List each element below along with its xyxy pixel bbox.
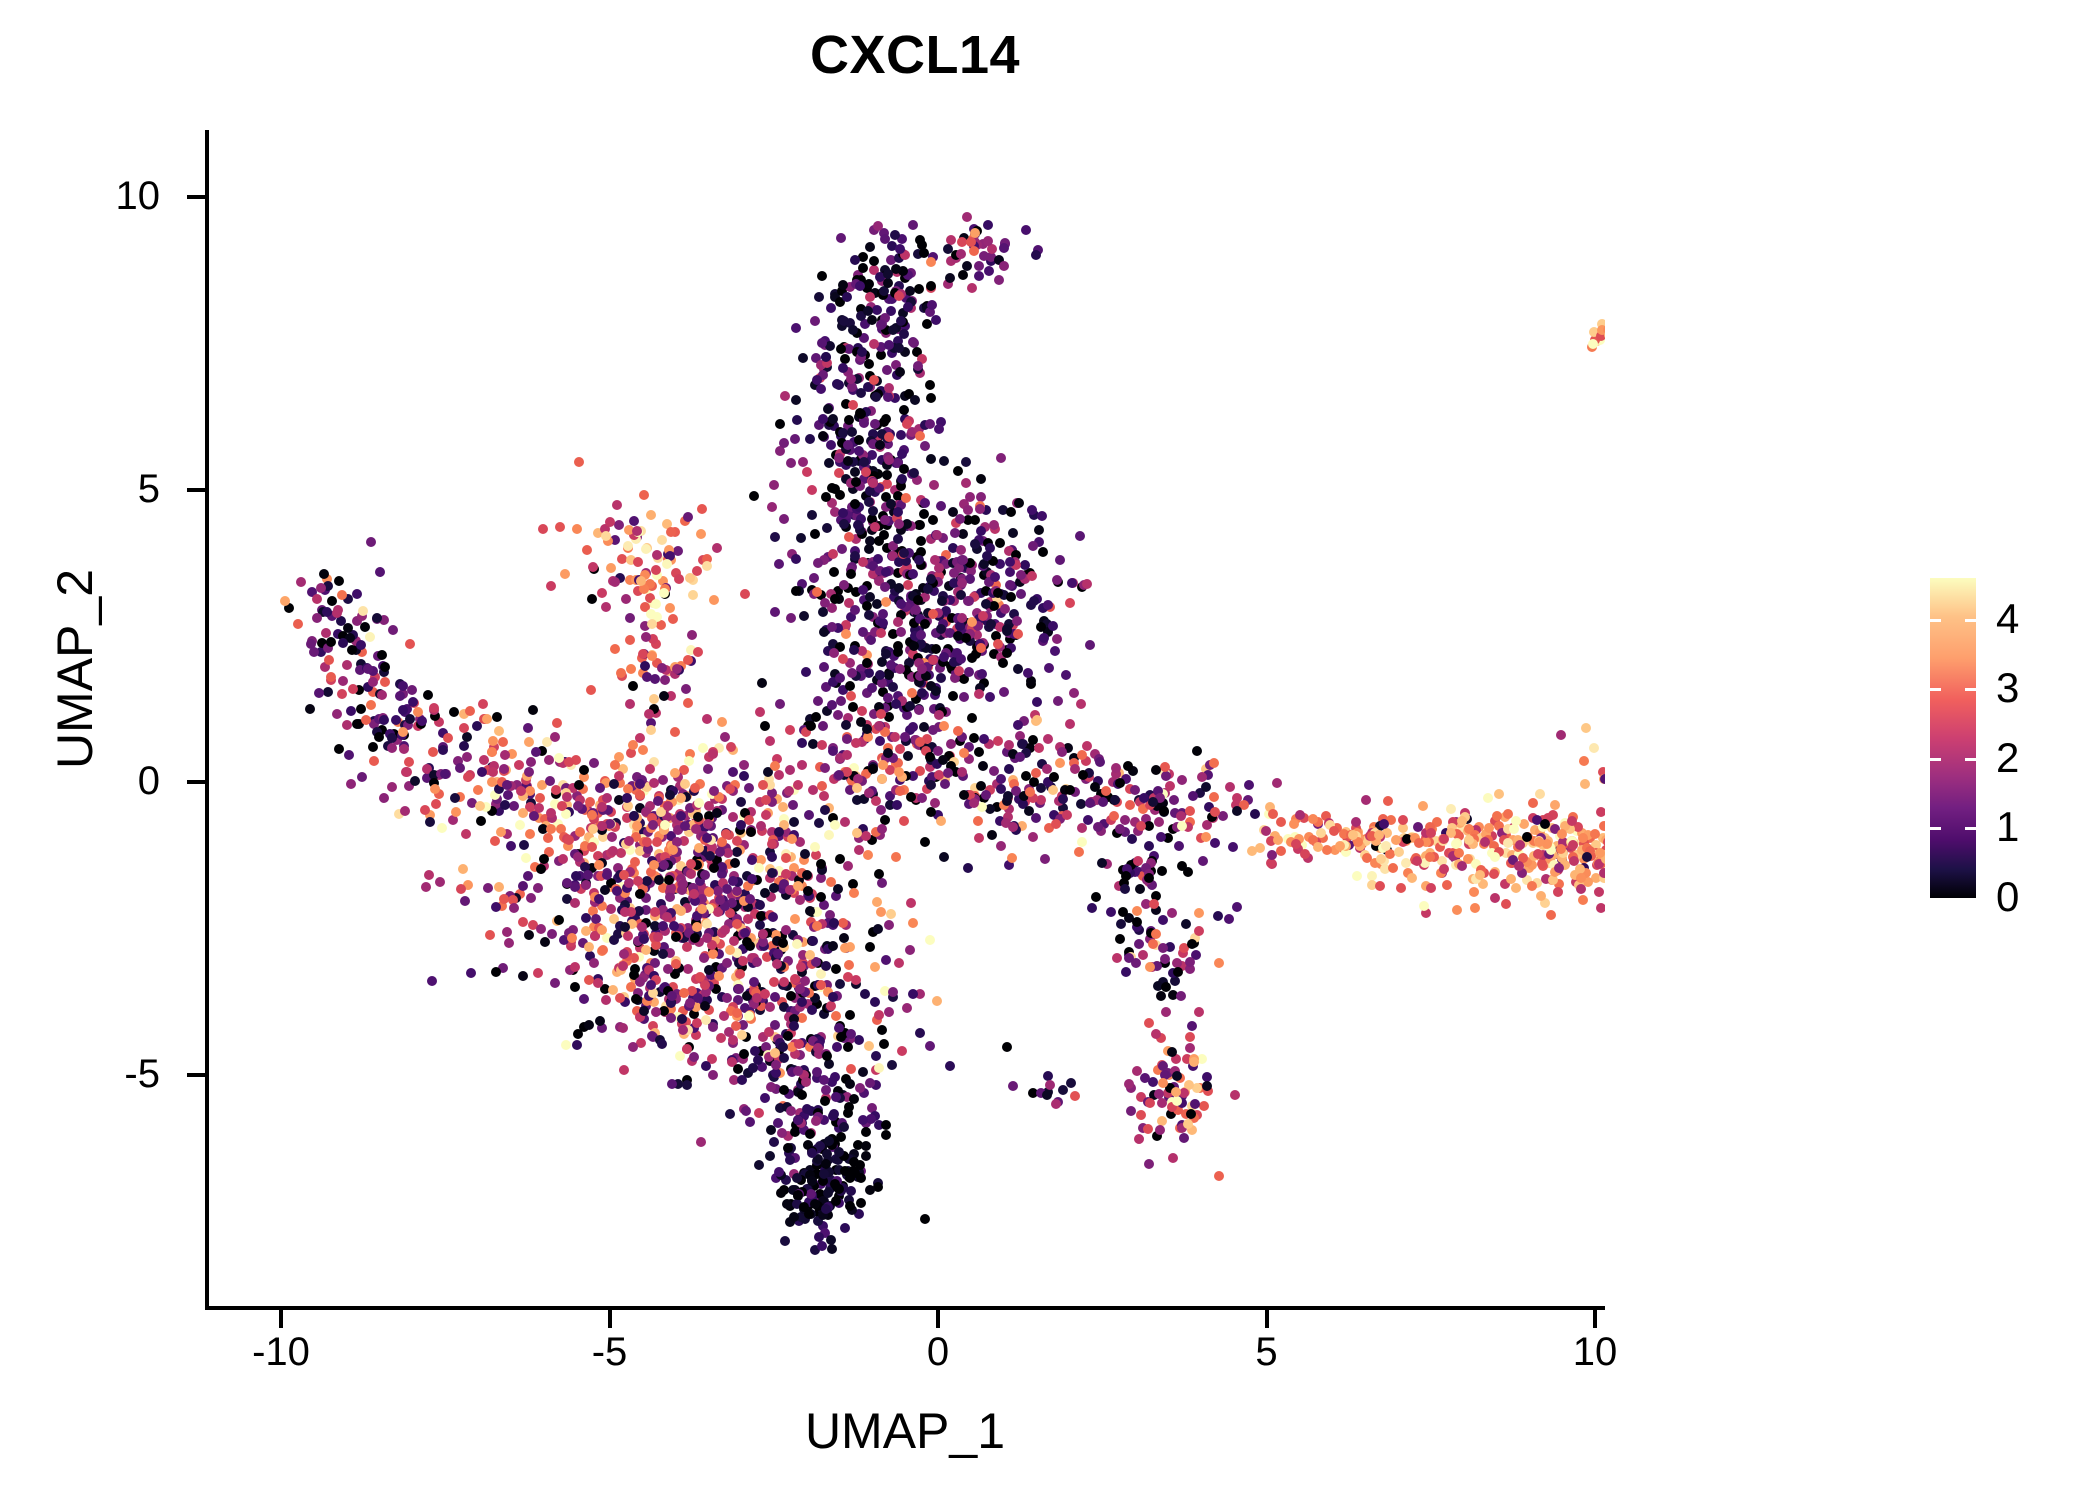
scatter-point (588, 824, 598, 834)
scatter-point (903, 751, 913, 761)
scatter-point (1503, 838, 1513, 848)
scatter-point (1051, 819, 1061, 829)
scatter-point (1209, 758, 1219, 768)
scatter-point (570, 962, 580, 972)
scatter-point (368, 742, 378, 752)
scatter-point (709, 863, 719, 873)
scatter-point (1078, 770, 1088, 780)
scatter-point (504, 938, 514, 948)
scatter-point (813, 1043, 823, 1053)
scatter-point (1490, 852, 1500, 862)
scatter-point (428, 747, 438, 757)
scatter-point (961, 457, 971, 467)
scatter-point (864, 788, 874, 798)
scatter-point (946, 739, 956, 749)
scatter-point (797, 1013, 807, 1023)
scatter-point (407, 685, 417, 695)
scatter-point (767, 839, 777, 849)
scatter-point (934, 710, 944, 720)
scatter-point (1580, 779, 1590, 789)
scatter-point (811, 1116, 821, 1126)
scatter-point (618, 1023, 628, 1033)
scatter-point (579, 765, 589, 775)
scatter-point (804, 810, 814, 820)
scatter-point (849, 888, 859, 898)
scatter-point (848, 325, 858, 335)
scatter-point (619, 870, 629, 880)
scatter-point (786, 613, 796, 623)
scatter-point (808, 936, 818, 946)
scatter-point (1157, 1098, 1167, 1108)
scatter-point (807, 485, 817, 495)
scatter-point (978, 761, 988, 771)
scatter-point (652, 550, 662, 560)
scatter-point (696, 1137, 706, 1147)
scatter-point (1158, 943, 1168, 953)
scatter-point (965, 574, 975, 584)
scatter-point (774, 770, 784, 780)
scatter-point (1172, 1096, 1182, 1106)
scatter-point (1151, 1029, 1161, 1039)
scatter-point (554, 753, 564, 763)
scatter-point (895, 744, 905, 754)
scatter-point (1155, 1125, 1165, 1135)
scatter-point (856, 409, 866, 419)
scatter-point (905, 945, 915, 955)
scatter-point (1136, 1110, 1146, 1120)
scatter-point (585, 797, 595, 807)
scatter-point (715, 895, 725, 905)
scatter-point (829, 567, 839, 577)
scatter-point (567, 933, 577, 943)
scatter-point (1197, 772, 1207, 782)
scatter-point (785, 1155, 795, 1165)
scatter-point (1201, 782, 1211, 792)
scatter-point (816, 384, 826, 394)
scatter-point (963, 596, 973, 606)
scatter-point (399, 744, 409, 754)
scatter-point (745, 894, 755, 904)
scatter-point (754, 1160, 764, 1170)
scatter-point (859, 418, 869, 428)
scatter-point (473, 785, 483, 795)
scatter-point (634, 906, 644, 916)
scatter-point (491, 902, 501, 912)
scatter-point (625, 699, 635, 709)
scatter-point (828, 414, 838, 424)
scatter-point (954, 666, 964, 676)
scatter-point (305, 704, 315, 714)
scatter-point (323, 687, 333, 697)
scatter-point (936, 501, 946, 511)
scatter-point (639, 1006, 649, 1016)
scatter-point (826, 440, 836, 450)
scatter-point (572, 524, 582, 534)
scatter-point (662, 559, 672, 569)
scatter-point (846, 1029, 856, 1039)
scatter-point (956, 249, 966, 259)
scatter-point (834, 1147, 844, 1157)
scatter-point (1125, 800, 1135, 810)
scatter-point (899, 405, 909, 415)
scatter-point (658, 775, 668, 785)
scatter-point (914, 284, 924, 294)
scatter-point (865, 942, 875, 952)
scatter-point (712, 808, 722, 818)
scatter-point (612, 886, 622, 896)
scatter-point (812, 587, 822, 597)
scatter-point (896, 627, 906, 637)
scatter-point (1003, 791, 1013, 801)
scatter-point (366, 700, 376, 710)
scatter-point (895, 786, 905, 796)
scatter-point (1008, 528, 1018, 538)
scatter-point (546, 824, 556, 834)
scatter-point (732, 886, 742, 896)
scatter-point (879, 1039, 889, 1049)
scatter-point (708, 1070, 718, 1080)
scatter-point (842, 292, 852, 302)
scatter-point (664, 875, 674, 885)
scatter-point (851, 738, 861, 748)
scatter-point (523, 871, 533, 881)
scatter-point (518, 917, 528, 927)
scatter-point (695, 972, 705, 982)
scatter-point (820, 1096, 830, 1106)
scatter-point (843, 861, 853, 871)
scatter-point (870, 522, 880, 532)
scatter-point (936, 673, 946, 683)
scatter-point (790, 434, 800, 444)
scatter-point (1426, 828, 1436, 838)
scatter-point (843, 1108, 853, 1118)
scatter-point (814, 292, 824, 302)
scatter-point (1557, 829, 1567, 839)
scatter-point (875, 440, 885, 450)
x-tick-mark (1265, 1310, 1269, 1328)
scatter-point (682, 1080, 692, 1090)
scatter-point (1533, 849, 1543, 859)
scatter-point (881, 414, 891, 424)
scatter-point (649, 778, 659, 788)
scatter-point (894, 519, 904, 529)
scatter-point (819, 1075, 829, 1085)
scatter-point (582, 545, 592, 555)
scatter-point (722, 993, 732, 1003)
y-tick-mark (187, 1073, 205, 1077)
scatter-point (1161, 771, 1171, 781)
scatter-point (1418, 801, 1428, 811)
scatter-point (908, 918, 918, 928)
scatter-point (926, 393, 936, 403)
scatter-point (630, 964, 640, 974)
scatter-point (678, 1025, 688, 1035)
scatter-point (579, 994, 589, 1004)
scatter-point (502, 927, 512, 937)
scatter-point (587, 594, 597, 604)
scatter-point (1185, 957, 1195, 967)
scatter-point (1021, 225, 1031, 235)
scatter-point (584, 942, 594, 952)
scatter-point (828, 941, 838, 951)
colorbar-tick-mark (1930, 688, 1941, 691)
scatter-point (496, 827, 506, 837)
scatter-point (1554, 863, 1564, 873)
scatter-point (956, 545, 966, 555)
scatter-point (1087, 903, 1097, 913)
scatter-point (324, 655, 334, 665)
colorbar-tick-mark (1965, 827, 1976, 830)
scatter-point (906, 898, 916, 908)
scatter-point (1040, 854, 1050, 864)
scatter-point (1144, 841, 1154, 851)
scatter-point (597, 802, 607, 812)
scatter-point (769, 480, 779, 490)
scatter-point (574, 780, 584, 790)
scatter-point (1599, 821, 1605, 831)
scatter-point (624, 836, 634, 846)
x-tick-mark (936, 1310, 940, 1328)
scatter-point (438, 745, 448, 755)
scatter-point (871, 1051, 881, 1061)
scatter-point (811, 712, 821, 722)
scatter-point (958, 529, 968, 539)
scatter-point (1186, 1109, 1196, 1119)
scatter-point (1199, 1101, 1209, 1111)
scatter-point (551, 785, 561, 795)
scatter-point (334, 576, 344, 586)
scatter-point (1115, 778, 1125, 788)
scatter-point (877, 824, 887, 834)
scatter-point (969, 733, 979, 743)
scatter-point (822, 1149, 832, 1159)
scatter-point (874, 1010, 884, 1020)
scatter-point (864, 610, 874, 620)
scatter-point (1480, 837, 1490, 847)
scatter-point (876, 320, 886, 330)
scatter-point (795, 895, 805, 905)
scatter-point (831, 1092, 841, 1102)
scatter-point (899, 329, 909, 339)
scatter-point (1151, 765, 1161, 775)
scatter-point (862, 724, 872, 734)
scatter-point (472, 721, 482, 731)
scatter-point (900, 732, 910, 742)
scatter-point (848, 702, 858, 712)
scatter-point (760, 989, 770, 999)
scatter-point (812, 1067, 822, 1077)
scatter-point (833, 710, 843, 720)
scatter-point (641, 544, 651, 554)
scatter-point (1187, 939, 1197, 949)
x-tick-label: 0 (868, 1332, 1008, 1372)
scatter-point (1161, 982, 1171, 992)
scatter-point (649, 860, 659, 870)
scatter-point (587, 810, 597, 820)
scatter-point (1213, 911, 1223, 921)
scatter-point (787, 834, 797, 844)
scatter-point (871, 392, 881, 402)
scatter-point (646, 980, 656, 990)
scatter-point (766, 1082, 776, 1092)
scatter-point (684, 756, 694, 766)
scatter-point (742, 937, 752, 947)
scatter-point (1511, 883, 1521, 893)
scatter-point (535, 793, 545, 803)
scatter-point (458, 864, 468, 874)
scatter-point (899, 816, 909, 826)
scatter-point (667, 1079, 677, 1089)
scatter-point (691, 824, 701, 834)
scatter-point (1412, 856, 1422, 866)
scatter-point (1124, 953, 1134, 963)
scatter-point (1050, 646, 1060, 656)
scatter-point (1158, 1078, 1168, 1088)
scatter-point (1062, 810, 1072, 820)
scatter-point (1228, 842, 1238, 852)
scatter-point (1210, 838, 1220, 848)
scatter-point (1024, 806, 1034, 816)
scatter-point (1112, 953, 1122, 963)
colorbar-tick-label: 2 (1996, 737, 2019, 779)
scatter-point (1055, 758, 1065, 768)
scatter-point (557, 801, 567, 811)
scatter-point (845, 1079, 855, 1089)
scatter-point (1483, 793, 1493, 803)
scatter-point (774, 559, 784, 569)
scatter-point (1134, 1134, 1144, 1144)
scatter-point (1185, 1043, 1195, 1053)
scatter-point (547, 929, 557, 939)
y-tick-label: -5 (40, 1054, 160, 1094)
scatter-point (1004, 764, 1014, 774)
scatter-point (618, 961, 628, 971)
scatter-point (861, 1141, 871, 1151)
scatter-point (455, 763, 465, 773)
scatter-point (623, 541, 633, 551)
scatter-point (791, 323, 801, 333)
scatter-point (525, 829, 535, 839)
scatter-point (635, 977, 645, 987)
scatter-point (1159, 806, 1169, 816)
scatter-point (1214, 1171, 1224, 1181)
scatter-point (845, 1010, 855, 1020)
scatter-point (1002, 648, 1012, 658)
scatter-point (1177, 775, 1187, 785)
scatter-point (864, 359, 874, 369)
scatter-point (1273, 835, 1283, 845)
scatter-point (1161, 1007, 1171, 1017)
scatter-point (326, 672, 336, 682)
scatter-point (680, 779, 690, 789)
scatter-point (818, 721, 828, 731)
scatter-point (1058, 794, 1068, 804)
scatter-point (1276, 846, 1286, 856)
scatter-point (440, 769, 450, 779)
scatter-point (768, 912, 778, 922)
scatter-point (363, 664, 373, 674)
scatter-point (974, 747, 984, 757)
scatter-point (402, 767, 412, 777)
scatter-point (1027, 505, 1037, 515)
scatter-point (1042, 1090, 1052, 1100)
scatter-point (653, 932, 663, 942)
scatter-point (573, 852, 583, 862)
scatter-point (352, 589, 362, 599)
scatter-point (836, 1032, 846, 1042)
scatter-point (536, 924, 546, 934)
scatter-point (482, 714, 492, 724)
scatter-point (827, 700, 837, 710)
scatter-point (870, 997, 880, 1007)
scatter-point (1267, 850, 1277, 860)
scatter-point (657, 663, 667, 673)
scatter-point (932, 996, 942, 1006)
scatter-point (923, 584, 933, 594)
scatter-point (1090, 782, 1100, 792)
scatter-point (837, 544, 847, 554)
scatter-point (683, 964, 693, 974)
scatter-point (1603, 837, 1605, 847)
x-tick-label: -5 (540, 1332, 680, 1372)
scatter-point (1144, 1159, 1154, 1169)
scatter-point (979, 251, 989, 261)
scatter-point (637, 922, 647, 932)
scatter-point (1209, 792, 1219, 802)
scatter-point (978, 611, 988, 621)
colorbar-tick-mark (1965, 619, 1976, 622)
scatter-point (460, 896, 470, 906)
scatter-point (1031, 250, 1041, 260)
scatter-point (883, 748, 893, 758)
scatter-point (1439, 864, 1449, 874)
scatter-point (838, 508, 848, 518)
scatter-point (1077, 823, 1087, 833)
scatter-point (1276, 817, 1286, 827)
page-title: CXCL14 (0, 24, 1830, 86)
scatter-point (1214, 958, 1224, 968)
scatter-point (878, 760, 888, 770)
scatter-point (564, 757, 574, 767)
scatter-point (937, 596, 947, 606)
scatter-point (770, 761, 780, 771)
scatter-point (752, 957, 762, 967)
scatter-point (740, 928, 750, 938)
scatter-point (959, 748, 969, 758)
scatter-point (993, 588, 1003, 598)
scatter-point (1509, 824, 1519, 834)
scatter-point (985, 692, 995, 702)
scatter-point (928, 515, 938, 525)
scatter-point (387, 782, 397, 792)
scatter-point (913, 361, 923, 371)
scatter-point (515, 820, 525, 830)
scatter-point (920, 837, 930, 847)
scatter-point (797, 1090, 807, 1100)
scatter-point (1067, 578, 1077, 588)
scatter-point (836, 696, 846, 706)
scatter-point (797, 738, 807, 748)
scatter-point (663, 801, 673, 811)
scatter-point (1132, 906, 1142, 916)
x-axis-title: UMAP_1 (205, 1402, 1605, 1460)
scatter-point (797, 760, 807, 770)
scatter-point (876, 628, 886, 638)
scatter-point (462, 732, 472, 742)
scatter-point (431, 799, 441, 809)
scatter-point (868, 506, 878, 516)
scatter-point (379, 715, 389, 725)
